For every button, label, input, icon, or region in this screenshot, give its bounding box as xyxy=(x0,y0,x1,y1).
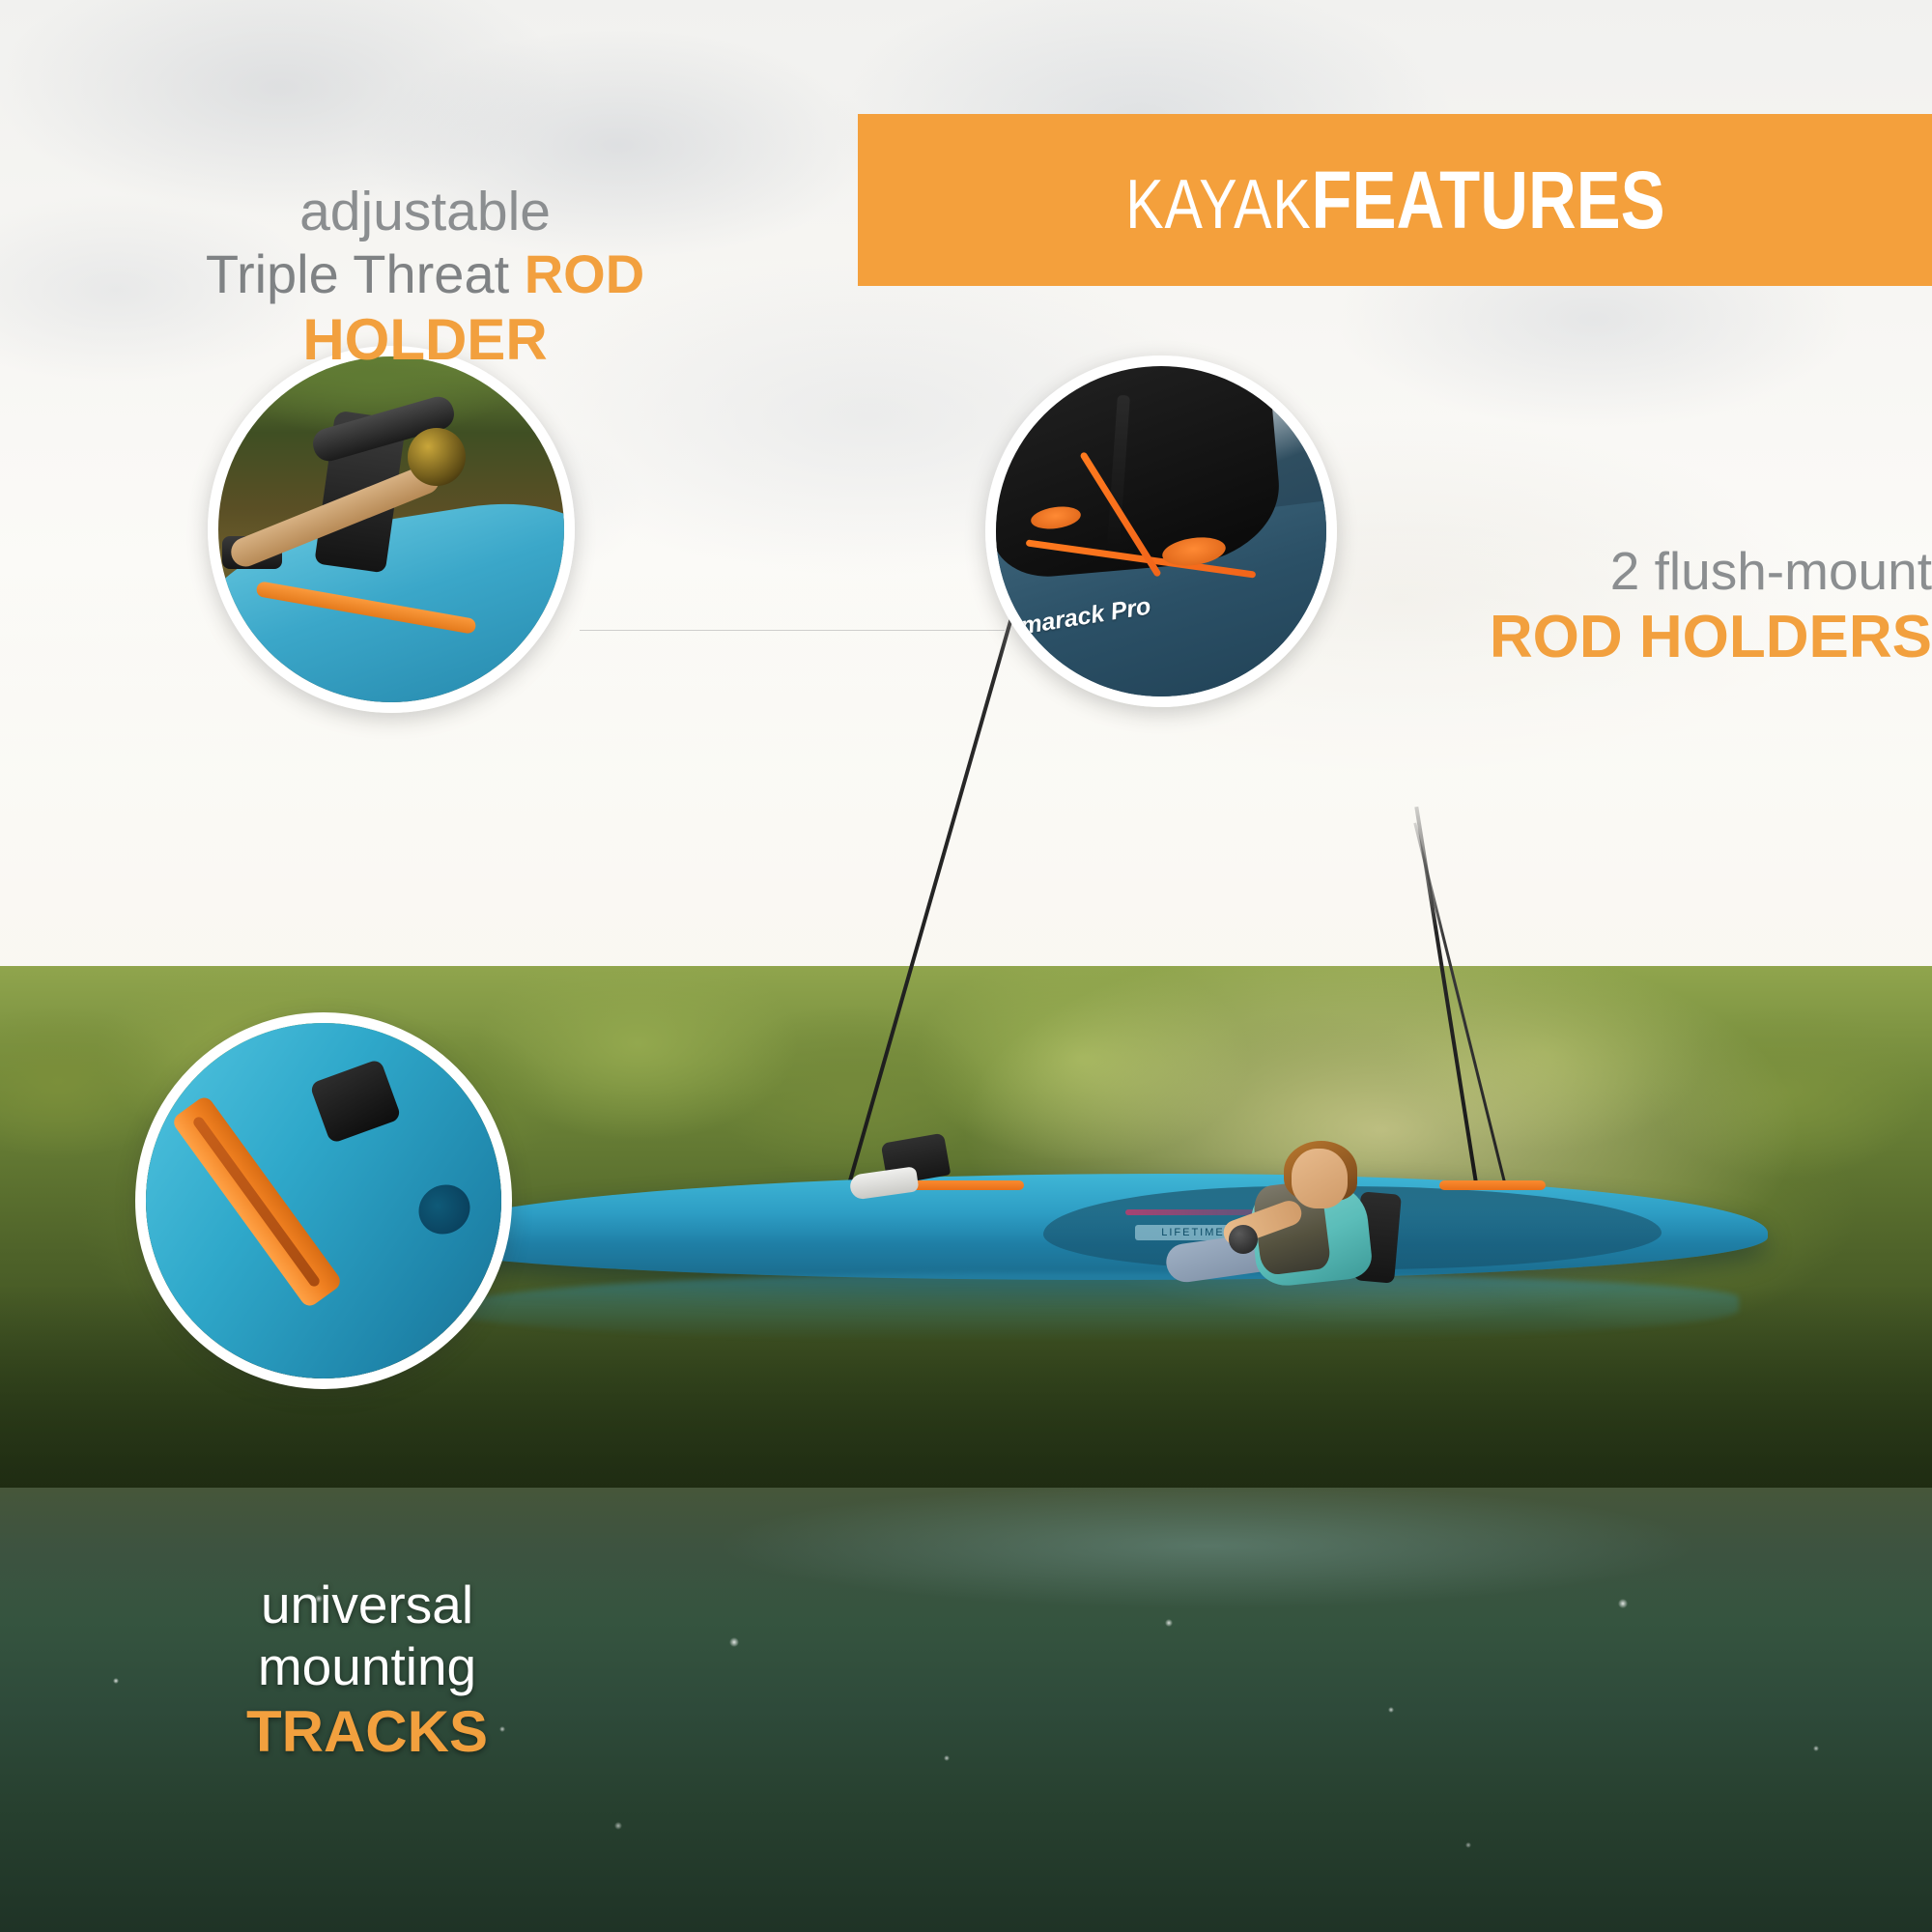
label-mounting-tracks-line1: universal xyxy=(174,1575,560,1636)
banner-title: FEATURES xyxy=(1311,155,1664,245)
angler-figure xyxy=(1212,1154,1454,1280)
flush-mount-photo: marack Pro xyxy=(996,366,1326,696)
label-rod-holder: adjustable Triple Threat ROD HOLDER xyxy=(126,180,724,374)
callout-circle-mounting-track[interactable] xyxy=(135,1012,512,1389)
label-mounting-tracks-line3: TRACKS xyxy=(174,1698,560,1766)
kayak-features-banner: KAYAKFEATURES xyxy=(858,114,1932,286)
infographic-canvas: LIFETIME KAYAKFEATURES xyxy=(0,0,1932,1932)
label-rod-holder-line2-accent: ROD xyxy=(525,243,644,304)
angler-head xyxy=(1292,1149,1348,1208)
mounting-track-photo xyxy=(146,1023,501,1378)
label-mounting-tracks-line2: mounting xyxy=(174,1636,560,1698)
callout-circle-flush-mount[interactable]: marack Pro xyxy=(985,355,1337,707)
label-flush-mount-line2: ROD HOLDERS xyxy=(1391,603,1932,672)
label-rod-holder-line2: Triple Threat ROD xyxy=(126,243,724,306)
kayak-deck-rail-right xyxy=(1439,1180,1546,1190)
rod-holder-photo xyxy=(218,356,564,702)
kayak-water-reflection xyxy=(444,1273,1739,1341)
label-mounting-tracks: universal mounting TRACKS xyxy=(174,1575,560,1765)
callout-circle-rod-holder[interactable] xyxy=(208,346,575,713)
spinning-reel xyxy=(408,428,466,486)
label-rod-holder-line3: HOLDER xyxy=(126,306,724,374)
label-rod-holder-line2-plain: Triple Threat xyxy=(206,243,525,304)
banner-prefix: KAYAK xyxy=(1125,166,1311,243)
label-flush-mount-line1: 2 flush-mount xyxy=(1391,541,1932,603)
callout-leader-line xyxy=(580,630,1005,631)
banner-title-group: KAYAKFEATURES xyxy=(1125,159,1664,241)
fishing-reel xyxy=(1229,1225,1258,1254)
label-rod-holder-line1: adjustable xyxy=(126,180,724,243)
label-flush-mount: 2 flush-mount ROD HOLDERS xyxy=(1391,541,1932,672)
